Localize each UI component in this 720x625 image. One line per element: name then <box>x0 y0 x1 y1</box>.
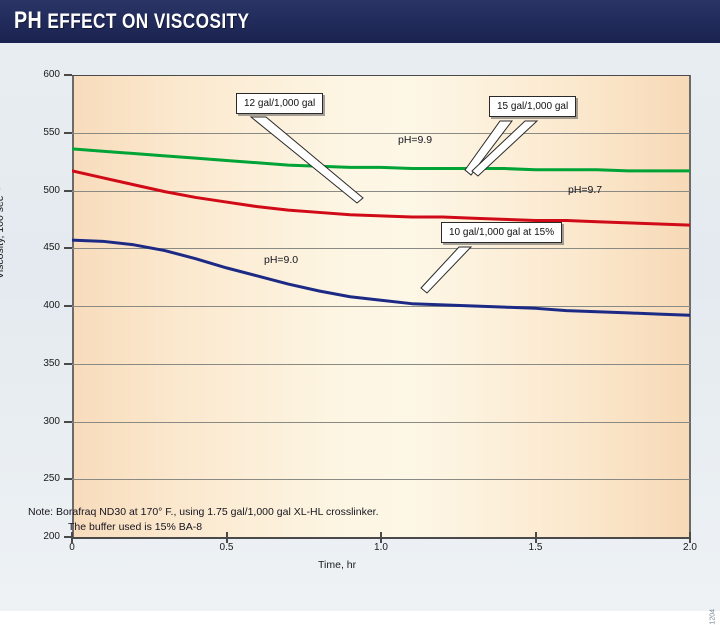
y-tick-mark <box>64 421 72 423</box>
callout-15gal[interactable]: 15 gal/1,000 gal <box>489 96 576 117</box>
y-tick-label: 600 <box>20 69 60 80</box>
corner-mark: 1204 <box>710 609 717 625</box>
footnote-line-1: Note: Borafraq ND30 at 170° F., using 1.… <box>28 506 379 518</box>
y-tick-label: 350 <box>20 358 60 369</box>
y-tick-label: 550 <box>20 127 60 138</box>
footnote: Note: Borafraq ND30 at 170° F., using 1.… <box>28 505 379 535</box>
y-tick-label: 500 <box>20 185 60 196</box>
x-tick-label: 2.0 <box>670 542 710 553</box>
y-tick-label: 400 <box>20 300 60 311</box>
series-lines <box>72 75 690 537</box>
callout-12gal[interactable]: 12 gal/1,000 gal <box>236 93 323 114</box>
series-label-ph90: pH=9.0 <box>264 254 298 266</box>
series-line-ph99 <box>72 149 690 171</box>
x-tick-label: 0.5 <box>207 542 247 553</box>
y-tick-mark <box>64 305 72 307</box>
x-tick-label: 0 <box>52 542 92 553</box>
title-bar: PH EFFECT ON VISCOSITY <box>0 0 720 40</box>
y-tick-label: 250 <box>20 473 60 484</box>
y-tick-mark <box>64 363 72 365</box>
page-title: PH EFFECT ON VISCOSITY <box>14 7 249 35</box>
y-axis-label: Viscosity, 100 sec⁻¹ <box>0 187 6 279</box>
y-tick-mark <box>64 74 72 76</box>
series-label-ph97: pH=9.7 <box>568 184 602 196</box>
y-tick-mark <box>64 132 72 134</box>
series-line-ph97 <box>72 171 690 225</box>
y-tick-mark <box>64 190 72 192</box>
page-title-lead: PH <box>14 7 42 34</box>
series-label-ph99: pH=9.9 <box>398 134 432 146</box>
y-tick-mark <box>64 247 72 249</box>
y-tick-label: 300 <box>20 416 60 427</box>
series-line-ph90 <box>72 240 690 315</box>
callout-10gal[interactable]: 10 gal/1,000 gal at 15% <box>441 222 562 243</box>
x-axis-label: Time, hr <box>318 559 356 571</box>
x-tick-label: 1.0 <box>361 542 401 553</box>
y-tick-label: 450 <box>20 242 60 253</box>
footnote-line-2: The buffer used is 15% BA-8 <box>28 520 379 535</box>
y-tick-mark <box>64 478 72 480</box>
chart-page: PH EFFECT ON VISCOSITY Viscosity, 100 se… <box>0 0 720 611</box>
x-tick-label: 1.5 <box>516 542 556 553</box>
page-title-rest: EFFECT ON VISCOSITY <box>47 10 249 33</box>
